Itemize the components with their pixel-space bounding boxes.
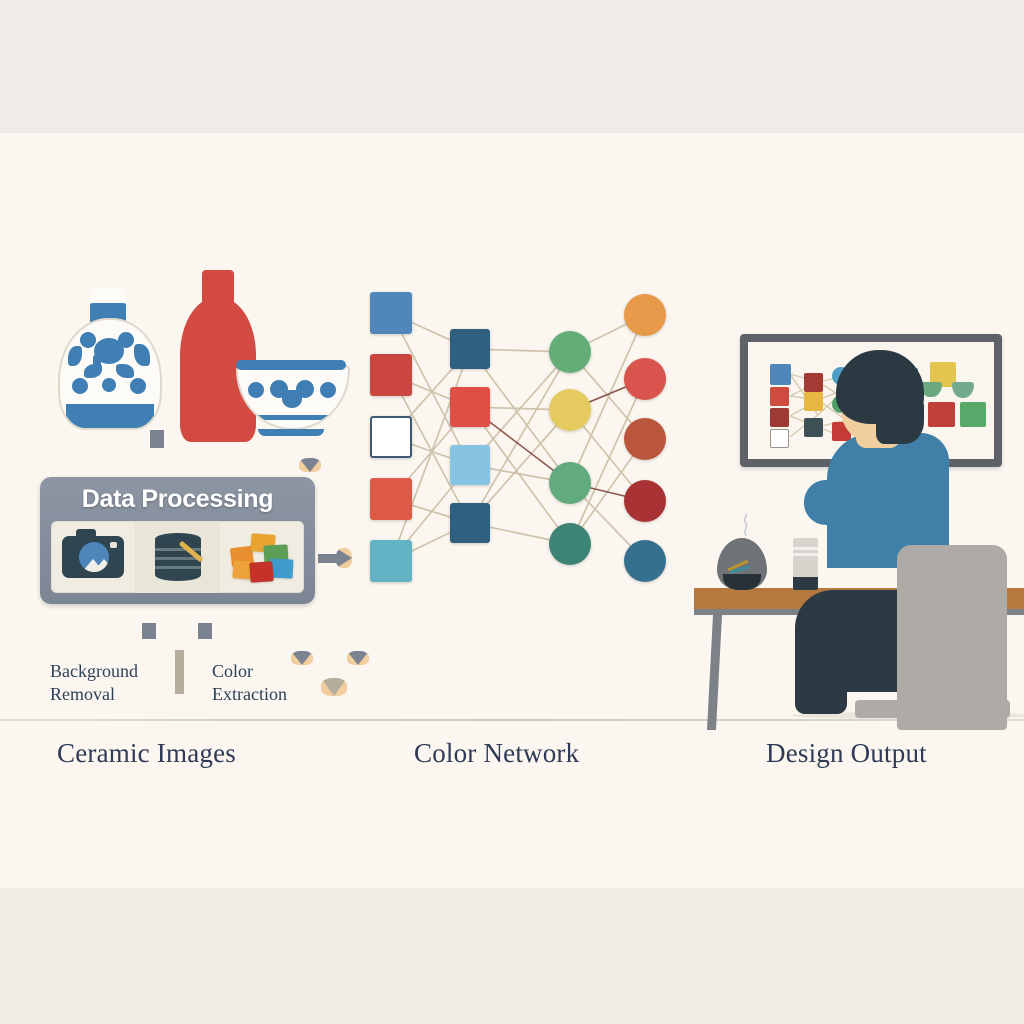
arrow-to-background-removal [140,623,158,639]
sublabel-background-removal: Background Removal [50,660,138,706]
arrow-card-down-long [170,650,188,694]
hidden2-node-3 [549,462,591,504]
arrow-to-color-extraction [196,623,214,639]
screen-hidden-2 [804,392,823,411]
hidden1-node-1 [450,329,490,369]
sublabel-color-extraction: Color Extraction [212,660,287,706]
output-node-1 [624,294,666,336]
hidden2-node-2 [549,389,591,431]
caption-design-output: Design Output [766,738,927,769]
output-node-3 [624,418,666,460]
data-processing-icon-strip [51,521,304,593]
arrow-card-to-network [318,548,352,568]
sublabel-color-extraction-line2: Extraction [212,683,287,706]
screen-input-1 [770,364,791,385]
palette-swatch-4 [928,402,955,427]
screen-hidden-3 [804,418,823,437]
sublabel-background-removal-line1: Background [50,660,138,683]
person-shin [795,652,847,714]
coffee-mug [793,538,818,590]
input-node-4 [370,478,412,520]
database-icon [155,533,201,581]
input-node-3 [370,416,412,458]
palette-bowl-2 [952,382,974,398]
camera-icon [62,536,124,578]
screen-input-3 [770,408,789,427]
ceramic-images-group [40,258,340,458]
input-node-2 [370,354,412,396]
output-node-4 [624,480,666,522]
hidden1-node-4 [450,503,490,543]
section-divider [0,719,1024,721]
camera-cell[interactable] [51,521,135,593]
hidden2-node-4 [549,523,591,565]
background-band-top [0,0,1024,133]
smoke-icon [739,510,753,540]
caption-color-network: Color Network [414,738,579,769]
output-node-2 [624,358,666,400]
screen-hidden-1 [804,373,823,392]
sublabel-background-removal-line2: Removal [50,683,138,706]
hidden1-node-2 [450,387,490,427]
design-output-group [690,330,1024,710]
sublabel-color-extraction-line1: Color [212,660,287,683]
blue-floral-vase-icon [58,288,158,426]
color-swatches-cell[interactable] [219,521,304,593]
screen-input-4 [770,429,789,448]
chair-seat [855,700,1010,718]
data-processing-title: Data Processing [40,485,315,514]
output-node-5 [624,540,666,582]
color-swatches-icon [231,533,293,581]
background-band-bottom [0,888,1024,1024]
color-network-diagram [355,280,685,580]
hidden2-node-1 [549,331,591,373]
person-hair-side [876,388,924,444]
hidden1-node-3 [450,445,490,485]
screen-input-2 [770,387,789,406]
blue-white-bowl-icon [236,354,346,436]
database-cell[interactable] [135,521,220,593]
caption-ceramic-images: Ceramic Images [57,738,236,769]
palette-swatch-5 [960,402,986,427]
incense-vase [717,528,767,590]
input-node-1 [370,292,412,334]
illustration-canvas: Data Processing [0,0,1024,1024]
input-node-5 [370,540,412,582]
arrow-ceramics-to-card [148,430,166,448]
data-processing-card[interactable]: Data Processing [40,477,315,604]
